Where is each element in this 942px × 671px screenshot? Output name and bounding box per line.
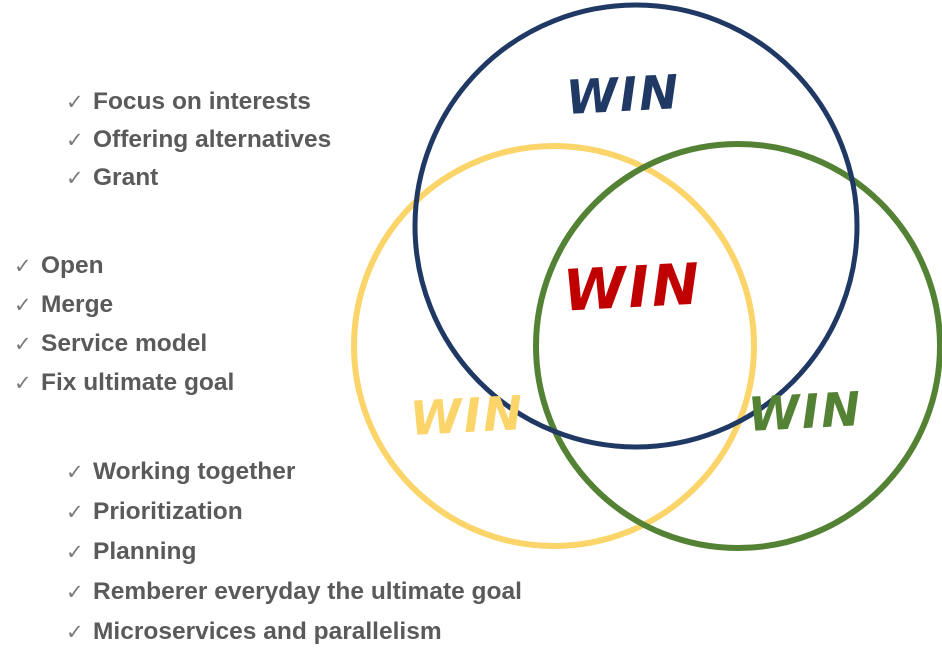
list-item-label: Service model [41, 330, 207, 358]
bullet-group-open: ✓ Open ✓ Merge ✓ Service model ✓ Fix ult… [14, 252, 234, 408]
list-item: ✓ Planning [66, 538, 522, 578]
checkmark-icon: ✓ [66, 580, 93, 604]
list-item: ✓ Service model [14, 330, 234, 369]
win-label-right: WIN [747, 386, 864, 439]
checkmark-icon: ✓ [66, 166, 93, 190]
list-item-label: Prioritization [93, 498, 243, 526]
checkmark-icon: ✓ [66, 620, 93, 644]
checkmark-icon: ✓ [14, 254, 41, 278]
checkmark-icon: ✓ [14, 332, 41, 356]
list-item: ✓ Remberer everyday the ultimate goal [66, 578, 522, 618]
list-item: ✓ Microservices and parallelism [66, 618, 522, 658]
list-item-label: Planning [93, 538, 196, 566]
list-item-label: Fix ultimate goal [41, 369, 234, 397]
checkmark-icon: ✓ [14, 293, 41, 317]
list-item: ✓ Merge [14, 291, 234, 330]
list-item-label: Focus on interests [93, 88, 311, 116]
win-label-center: WIN [562, 256, 703, 320]
bullet-group-working: ✓ Working together ✓ Prioritization ✓ Pl… [66, 458, 522, 658]
list-item: ✓ Fix ultimate goal [14, 369, 234, 408]
list-item-label: Merge [41, 291, 113, 319]
list-item-label: Remberer everyday the ultimate goal [93, 578, 522, 606]
slide-canvas: WIN WIN WIN WIN ✓ Focus on interests ✓ O… [0, 0, 942, 671]
list-item-label: Open [41, 252, 104, 280]
win-label-top: WIN [565, 69, 682, 122]
list-item-label: Offering alternatives [93, 126, 331, 154]
win-label-left: WIN [409, 390, 526, 443]
list-item: ✓ Focus on interests [66, 88, 331, 126]
checkmark-icon: ✓ [66, 90, 93, 114]
checkmark-icon: ✓ [66, 540, 93, 564]
list-item-label: Microservices and parallelism [93, 618, 442, 646]
list-item: ✓ Offering alternatives [66, 126, 331, 164]
bullet-group-focus: ✓ Focus on interests ✓ Offering alternat… [66, 88, 331, 202]
venn-circle-green [536, 144, 940, 548]
checkmark-icon: ✓ [66, 460, 93, 484]
checkmark-icon: ✓ [66, 128, 93, 152]
list-item: ✓ Grant [66, 164, 331, 202]
list-item: ✓ Open [14, 252, 234, 291]
list-item-label: Grant [93, 164, 158, 192]
checkmark-icon: ✓ [14, 371, 41, 395]
checkmark-icon: ✓ [66, 500, 93, 524]
list-item: ✓ Prioritization [66, 498, 522, 538]
list-item-label: Working together [93, 458, 295, 486]
list-item: ✓ Working together [66, 458, 522, 498]
